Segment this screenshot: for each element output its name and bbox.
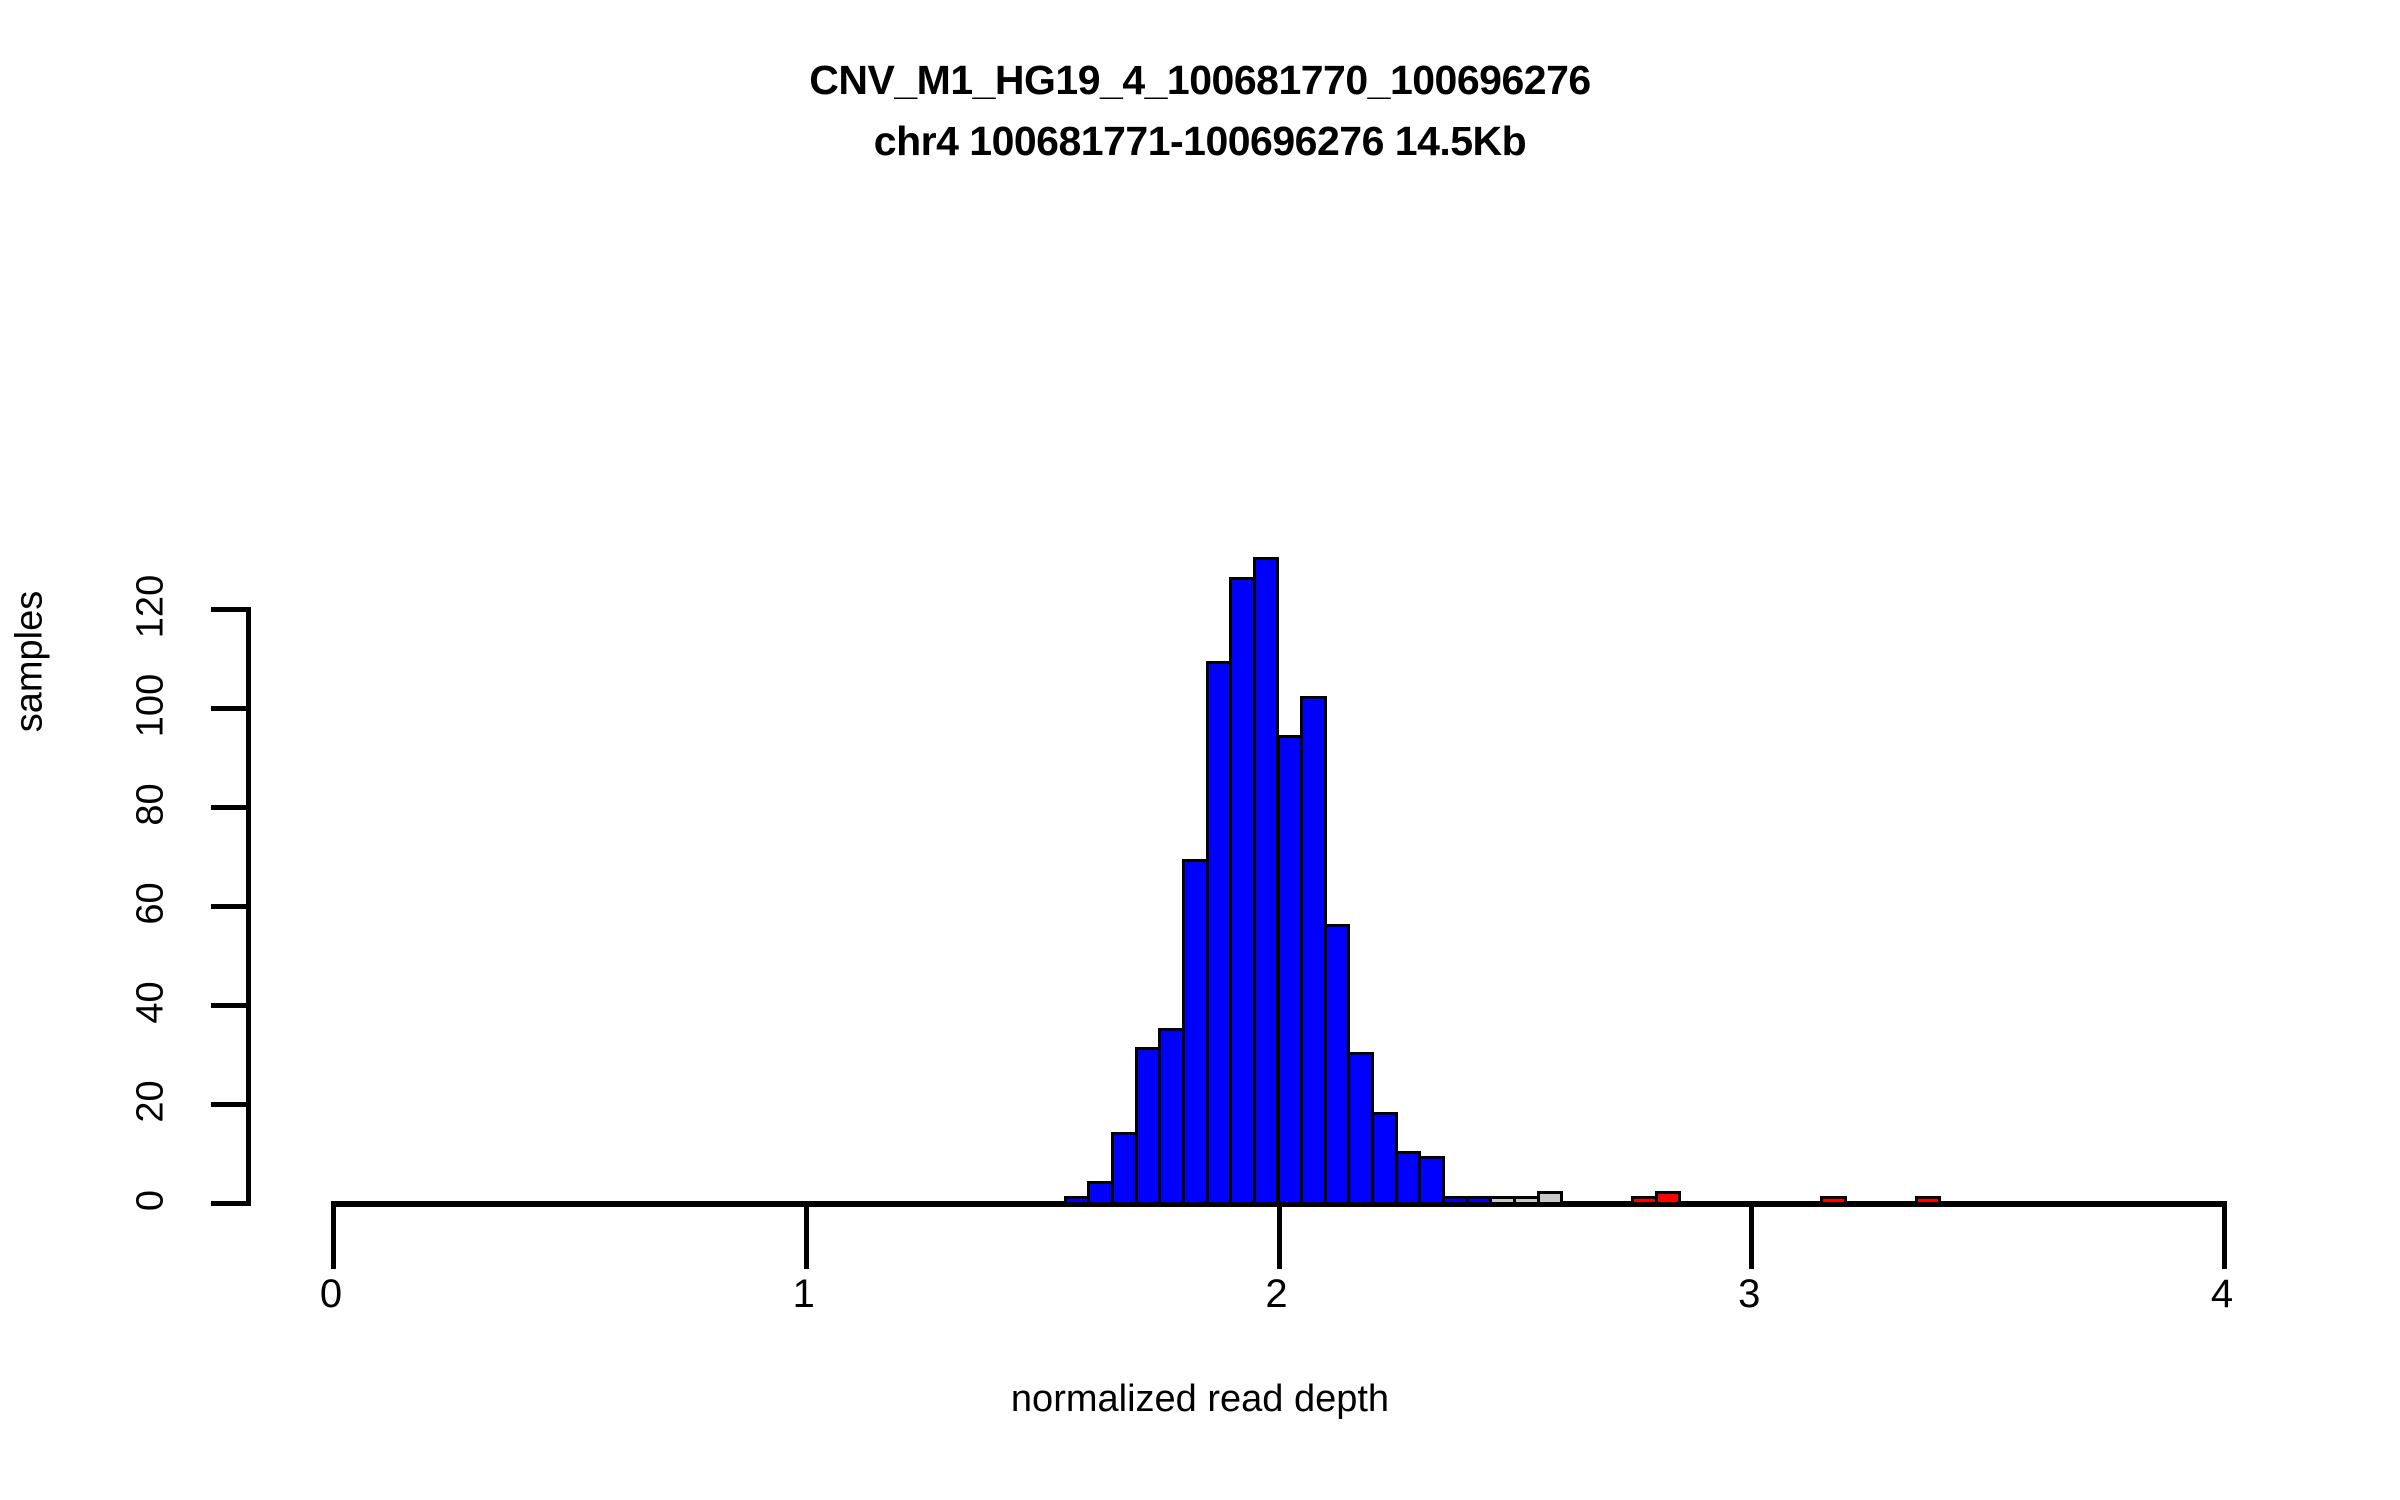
plot-area: samples normalized read depth 0204060801… bbox=[0, 0, 2400, 1500]
histogram-bar bbox=[1300, 696, 1327, 1205]
histogram-bar bbox=[1324, 924, 1351, 1205]
y-axis-label: samples bbox=[9, 512, 52, 812]
x-tick-label-1: 1 bbox=[764, 1272, 844, 1317]
histogram-bar bbox=[1182, 859, 1209, 1205]
x-tick-label-4: 4 bbox=[2182, 1272, 2262, 1317]
histogram-bar bbox=[1371, 1112, 1398, 1205]
y-tick-80 bbox=[211, 805, 251, 810]
x-tick-2 bbox=[1277, 1207, 1282, 1269]
y-tick-0 bbox=[211, 1201, 251, 1206]
histogram-bar bbox=[1915, 1196, 1942, 1205]
x-tick-label-0: 0 bbox=[291, 1272, 371, 1317]
x-tick-1 bbox=[804, 1207, 809, 1269]
y-tick-100 bbox=[211, 706, 251, 711]
histogram-bar bbox=[1229, 577, 1256, 1205]
histogram-figure: CNV_M1_HG19_4_100681770_100696276 chr4 1… bbox=[0, 0, 2400, 1500]
histogram-bar bbox=[1347, 1052, 1374, 1205]
x-tick-label-3: 3 bbox=[1709, 1272, 1789, 1317]
histogram-bar bbox=[1418, 1156, 1445, 1205]
histogram-bar bbox=[1466, 1196, 1493, 1205]
histogram-bar bbox=[1064, 1196, 1091, 1205]
y-tick-40 bbox=[211, 1003, 251, 1008]
histogram-bar bbox=[1489, 1196, 1516, 1205]
histogram-bar bbox=[1158, 1028, 1185, 1205]
histogram-bar bbox=[1206, 661, 1233, 1205]
histogram-bar bbox=[1513, 1196, 1540, 1205]
histogram-bar bbox=[1655, 1191, 1682, 1205]
histogram-bar bbox=[1537, 1191, 1564, 1205]
y-tick-60 bbox=[211, 904, 251, 909]
histogram-bar bbox=[1253, 557, 1280, 1205]
x-tick-label-2: 2 bbox=[1237, 1272, 1317, 1317]
x-tick-4 bbox=[2222, 1207, 2227, 1269]
x-tick-3 bbox=[1749, 1207, 1754, 1269]
y-tick-120 bbox=[211, 607, 251, 612]
histogram-bar bbox=[1820, 1196, 1847, 1205]
histogram-bar bbox=[1135, 1047, 1162, 1205]
y-tick-label-120: 120 bbox=[130, 546, 173, 666]
histogram-bar bbox=[1277, 735, 1304, 1205]
y-tick-20 bbox=[211, 1102, 251, 1107]
x-axis-label: normalized read depth bbox=[0, 1378, 2400, 1421]
histogram-bar bbox=[1087, 1181, 1114, 1205]
histogram-bar bbox=[1631, 1196, 1658, 1205]
histogram-bar bbox=[1111, 1132, 1138, 1205]
histogram-bar bbox=[1442, 1196, 1469, 1205]
x-tick-0 bbox=[331, 1207, 336, 1269]
histogram-bar bbox=[1395, 1151, 1422, 1205]
